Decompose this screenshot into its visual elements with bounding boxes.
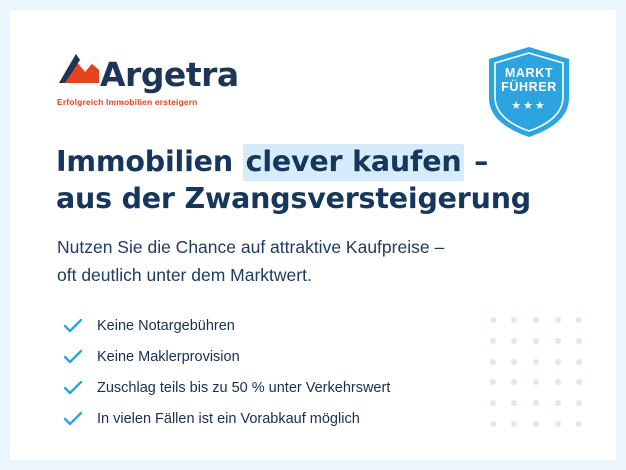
subheadline: Nutzen Sie die Chance auf attraktive Kau…	[57, 233, 597, 289]
dot	[533, 359, 539, 365]
check-icon	[62, 315, 84, 337]
headline-highlight: clever kaufen	[243, 144, 465, 181]
dot	[511, 379, 517, 385]
dot	[555, 317, 561, 323]
page-title: Immobilien clever kaufen – aus der Zwang…	[56, 143, 576, 217]
dot	[576, 379, 582, 385]
headline-post: –	[464, 145, 488, 178]
dot	[533, 338, 539, 344]
dot	[511, 317, 517, 323]
dot	[533, 379, 539, 385]
headline-line-2: aus der Zwangsversteigerung	[56, 180, 576, 217]
brand-tagline: Erfolgreich Immobilien ersteigern	[57, 97, 246, 107]
dot	[576, 400, 582, 406]
check-icon	[62, 377, 84, 399]
decorative-dot-pattern	[482, 310, 590, 434]
dot-grid	[482, 310, 590, 434]
subheadline-line-2: oft deutlich unter dem Marktwert.	[57, 261, 597, 289]
list-item-label: Keine Maklerprovision	[97, 349, 240, 365]
dot	[555, 338, 561, 344]
marktfuehrer-badge: MARKT FÜHRER ★★★	[486, 46, 572, 138]
dot	[555, 421, 561, 427]
dot	[533, 400, 539, 406]
dot	[555, 400, 561, 406]
logo-row: Argetra	[56, 48, 246, 92]
dot	[555, 379, 561, 385]
dot	[490, 338, 496, 344]
dot	[555, 359, 561, 365]
dot	[576, 421, 582, 427]
dot	[490, 359, 496, 365]
argetra-roof-icon	[56, 48, 102, 92]
list-item-label: In vielen Fällen ist ein Vorabkauf mögli…	[97, 411, 360, 427]
brand-name: Argetra	[100, 58, 239, 92]
list-item-label: Keine Notargebühren	[97, 318, 235, 334]
dot	[490, 379, 496, 385]
check-icon	[62, 346, 84, 368]
dot	[511, 359, 517, 365]
dot	[576, 359, 582, 365]
dot	[576, 317, 582, 323]
dot	[511, 338, 517, 344]
dot	[576, 338, 582, 344]
dot	[533, 317, 539, 323]
brand-logo[interactable]: Argetra Erfolgreich Immobilien ersteiger…	[56, 48, 246, 107]
dot	[511, 400, 517, 406]
subheadline-line-1: Nutzen Sie die Chance auf attraktive Kau…	[57, 233, 597, 261]
check-icon	[62, 408, 84, 430]
dot	[490, 400, 496, 406]
headline-line-1: Immobilien clever kaufen –	[56, 143, 576, 180]
dot	[533, 421, 539, 427]
dot	[511, 421, 517, 427]
list-item-label: Zuschlag teils bis zu 50 % unter Verkehr…	[97, 380, 390, 396]
dot	[490, 317, 496, 323]
advertisement-card: Argetra Erfolgreich Immobilien ersteiger…	[0, 0, 626, 470]
card-inner: Argetra Erfolgreich Immobilien ersteiger…	[10, 10, 616, 460]
headline-pre: Immobilien	[56, 145, 243, 178]
dot	[490, 421, 496, 427]
